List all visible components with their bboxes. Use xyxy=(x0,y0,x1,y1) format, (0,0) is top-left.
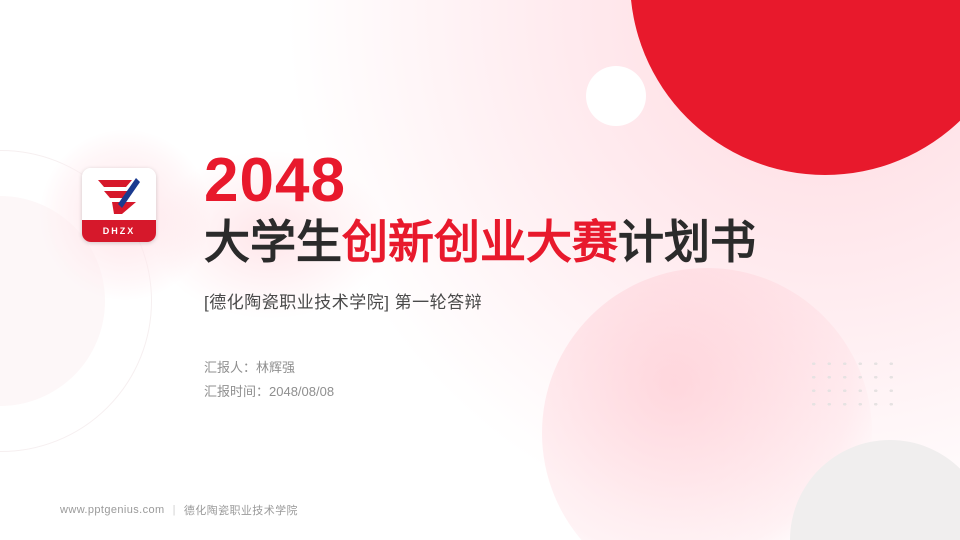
title-part-2-accent: 创新创业大赛 xyxy=(342,216,618,268)
footer-site: www.pptgenius.com xyxy=(60,504,165,516)
page-title: 大学生创新创业大赛计划书 xyxy=(204,218,844,268)
subtitle: [德化陶瓷职业技术学院] 第一轮答辩 xyxy=(204,288,844,313)
title-block: 2048 大学生创新创业大赛计划书 [德化陶瓷职业技术学院] 第一轮答辩 汇报人… xyxy=(204,150,844,404)
meta-block: 汇报人：林辉强 汇报时间：2048/08/08 xyxy=(204,356,844,404)
school-logo: DHZX xyxy=(82,168,156,242)
logo-emblem-icon xyxy=(92,174,146,218)
title-part-3: 计划书 xyxy=(618,216,756,268)
title-part-1: 大学生 xyxy=(204,216,342,268)
footer-separator: | xyxy=(173,504,176,516)
white-dot-decoration xyxy=(586,66,646,126)
presenter-line: 汇报人：林辉强 xyxy=(204,356,844,380)
year-heading: 2048 xyxy=(204,150,844,212)
date-line: 汇报时间：2048/08/08 xyxy=(204,380,844,404)
logo-wordmark: DHZX xyxy=(82,220,156,242)
footer: www.pptgenius.com | 德化陶瓷职业技术学院 xyxy=(60,502,298,518)
presentation-slide: DHZX 2048 大学生创新创业大赛计划书 [德化陶瓷职业技术学院] 第一轮答… xyxy=(0,0,960,540)
footer-org: 德化陶瓷职业技术学院 xyxy=(184,502,298,518)
